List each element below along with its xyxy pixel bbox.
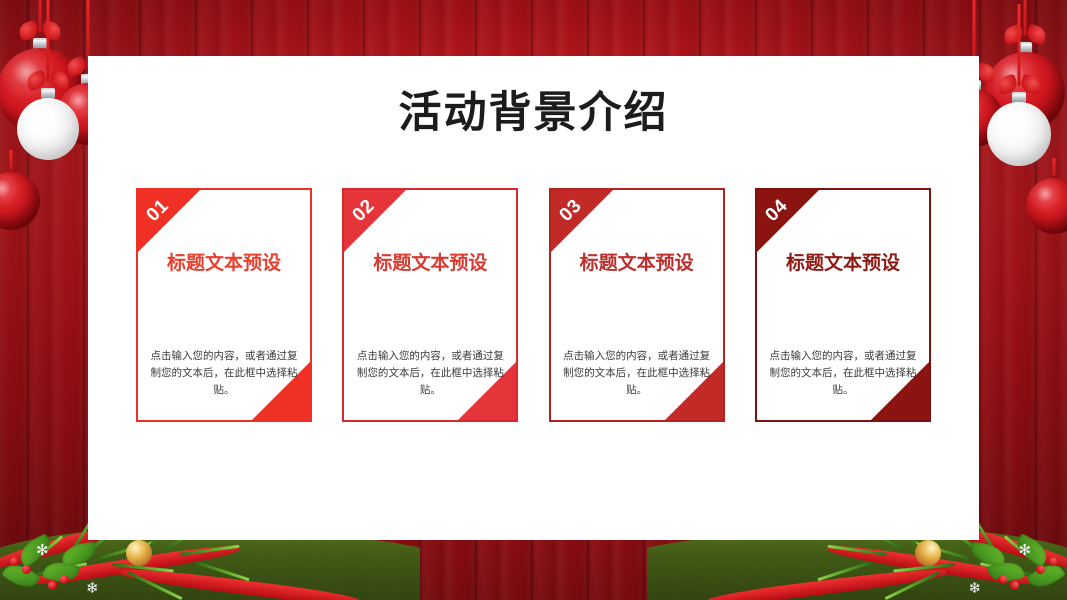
card-title: 标题文本预设 [757,248,929,275]
corner-triangle-top-left [344,190,406,252]
snowflake-icon: ✻ [1018,543,1031,558]
corner-triangle-top-left [551,190,613,252]
snowflake-icon: ❄ [968,581,981,596]
content-panel: 活动背景介绍 01 标题文本预设 点击输入您的内容，或者通过复制您的文本后，在此… [88,56,979,540]
card-title: 标题文本预设 [344,248,516,275]
info-card-01[interactable]: 01 标题文本预设 点击输入您的内容，或者通过复制您的文本后，在此框中选择粘贴。 [136,188,312,422]
card-body-text: 点击输入您的内容，或者通过复制您的文本后，在此框中选择粘贴。 [563,348,711,399]
snowflake-icon: ❄ [86,581,99,596]
info-card-03[interactable]: 03 标题文本预设 点击输入您的内容，或者通过复制您的文本后，在此框中选择粘贴。 [549,188,725,422]
ornament-red-lower-right [1019,158,1067,278]
card-title: 标题文本预设 [138,248,310,275]
card-body-text: 点击输入您的内容，或者通过复制您的文本后，在此框中选择粘贴。 [150,348,298,399]
card-body-text: 点击输入您的内容，或者通过复制您的文本后，在此框中选择粘贴。 [356,348,504,399]
card-title: 标题文本预设 [551,248,723,275]
info-card-02[interactable]: 02 标题文本预设 点击输入您的内容，或者通过复制您的文本后，在此框中选择粘贴。 [342,188,518,422]
slide-canvas: ✻ ❄ ✻ ❄ 活动背景介绍 [0,0,1067,600]
card-list: 01 标题文本预设 点击输入您的内容，或者通过复制您的文本后，在此框中选择粘贴。… [136,188,931,422]
corner-triangle-top-left [138,190,200,252]
info-card-04[interactable]: 04 标题文本预设 点击输入您的内容，或者通过复制您的文本后，在此框中选择粘贴。 [755,188,931,422]
snowflake-icon: ✻ [36,543,49,558]
page-title: 活动背景介绍 [88,78,979,140]
ornament-red-lower-left [0,150,46,270]
corner-triangle-top-left [757,190,819,252]
card-body-text: 点击输入您的内容，或者通过复制您的文本后，在此框中选择粘贴。 [769,348,917,399]
